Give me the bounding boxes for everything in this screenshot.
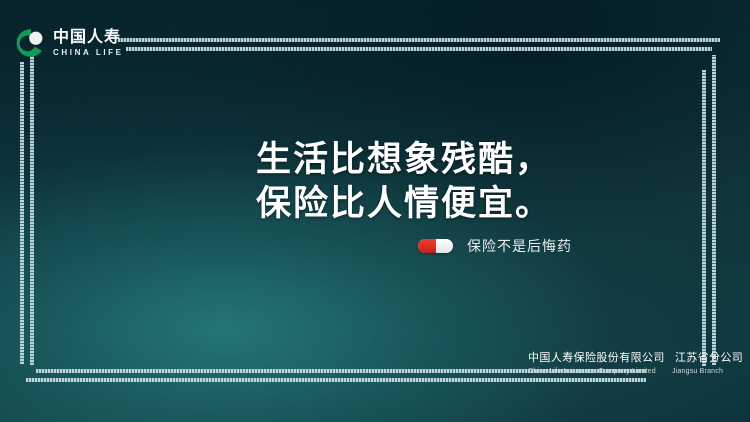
brand-name-cn: 中国人寿 bbox=[53, 30, 124, 46]
frame-line-right-outer bbox=[712, 55, 716, 365]
frame-line-right-inner bbox=[702, 70, 706, 366]
footer-branch-en: Jiangsu Branch bbox=[672, 368, 723, 375]
footer-company-en: China Life Insurance Company Limited bbox=[528, 368, 662, 375]
brand-logo: 中国人寿 CHINA LIFE bbox=[16, 28, 124, 58]
poster-canvas: 中国人寿 CHINA LIFE 生活比想象残酷， 保险比人情便宜。 保险不是后悔… bbox=[0, 0, 750, 422]
frame-line-top-outer bbox=[118, 38, 720, 42]
brand-name-en: CHINA LIFE bbox=[53, 49, 124, 57]
headline-line-1: 生活比想象残酷， bbox=[256, 138, 552, 182]
capsule-pill-red-half bbox=[418, 239, 436, 253]
footer-company-cn: 中国人寿保险股份有限公司 bbox=[528, 349, 665, 365]
headline: 生活比想象残酷， 保险比人情便宜。 bbox=[256, 138, 552, 226]
footer-company-info: 中国人寿保险股份有限公司 江苏省分公司 China Life Insurance… bbox=[528, 349, 743, 375]
capsule-pill-white-half bbox=[436, 239, 454, 253]
tagline: 保险不是后悔药 bbox=[418, 236, 572, 256]
headline-line-2: 保险比人情便宜。 bbox=[256, 182, 552, 226]
frame-line-left-outer bbox=[20, 62, 24, 364]
capsule-pill-icon bbox=[418, 239, 453, 253]
footer-branch-cn: 江苏省分公司 bbox=[675, 349, 743, 365]
frame-line-left-inner bbox=[30, 55, 34, 365]
footer-row-en: China Life Insurance Company Limited Jia… bbox=[528, 368, 743, 375]
footer-row-cn: 中国人寿保险股份有限公司 江苏省分公司 bbox=[528, 349, 743, 365]
frame-line-bottom-outer bbox=[26, 378, 646, 382]
tagline-text: 保险不是后悔药 bbox=[467, 236, 572, 256]
china-life-logo-icon bbox=[16, 28, 46, 58]
frame-line-top-inner bbox=[126, 47, 712, 51]
brand-logo-text: 中国人寿 CHINA LIFE bbox=[53, 30, 124, 57]
